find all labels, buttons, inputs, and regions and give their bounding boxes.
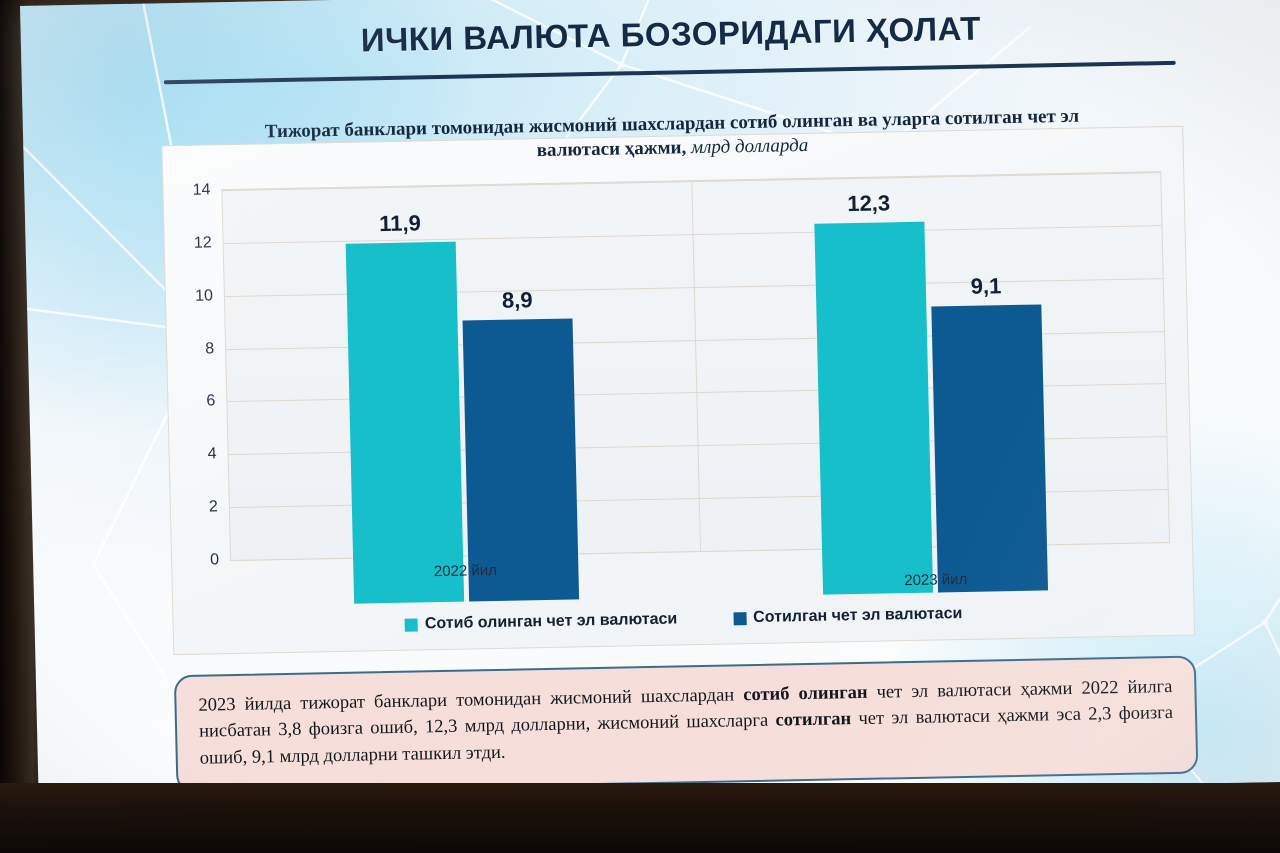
chart-title-unit: млрд долларда xyxy=(686,134,809,157)
bar-value-label: 11,9 xyxy=(379,210,421,237)
bar-sold-2023-йил[interactable] xyxy=(932,304,1048,593)
legend-label-sold: Сотилган чет эл валютаси xyxy=(753,605,963,627)
note-bold-2: сотилган xyxy=(775,709,851,730)
x-axis-category-label: 2023 йил xyxy=(904,571,967,589)
bar-value-label: 8,9 xyxy=(502,287,533,314)
y-axis-tick-label: 12 xyxy=(194,234,212,252)
legend-item-sold[interactable]: Сотилган чет эл валютаси xyxy=(733,605,963,627)
summary-note: 2023 йилда тижорат банклари томонидан жи… xyxy=(174,656,1199,794)
note-bold-1: сотиб олинган xyxy=(743,683,868,705)
chart-legend: Сотиб олинган чет эл валютаси Сотилган ч… xyxy=(174,601,1194,639)
chart-container: Тижорат банклари томонидан жисмоний шахс… xyxy=(161,126,1195,655)
y-axis-tick-label: 8 xyxy=(205,340,214,358)
legend-item-bought[interactable]: Сотиб олинган чет эл валютаси xyxy=(405,610,678,633)
presentation-slide: ИЧКИ ВАЛЮТА БОЗОРИДАГИ ҲОЛАТ Тижорат бан… xyxy=(20,0,1280,806)
room-wall-bottom xyxy=(0,783,1280,853)
photo-stage: ИЧКИ ВАЛЮТА БОЗОРИДАГИ ҲОЛАТ Тижорат бан… xyxy=(0,0,1280,853)
plot-area: 0246810121411,98,912,39,1 xyxy=(221,171,1170,561)
y-axis-tick-label: 6 xyxy=(206,393,215,411)
note-text-1: 2023 йилда тижорат банклари томонидан жи… xyxy=(198,685,743,715)
legend-swatch-sold xyxy=(733,612,746,625)
y-axis-tick-label: 14 xyxy=(192,181,210,199)
bar-sold-2022-йил[interactable] xyxy=(463,318,579,601)
legend-label-bought: Сотиб олинган чет эл валютаси xyxy=(425,610,678,633)
y-axis-tick-label: 10 xyxy=(195,287,213,305)
bar-value-label: 12,3 xyxy=(847,190,890,217)
category-separator xyxy=(691,181,701,551)
y-axis-tick-label: 2 xyxy=(209,498,218,516)
bar-bought-2022-йил[interactable] xyxy=(346,241,464,604)
y-axis-tick-label: 0 xyxy=(210,551,219,569)
x-axis-category-label: 2022 йил xyxy=(434,562,497,580)
bar-value-label: 9,1 xyxy=(970,273,1001,300)
bar-bought-2023-йил[interactable] xyxy=(814,222,932,595)
y-axis-tick-label: 4 xyxy=(208,446,217,464)
legend-swatch-bought xyxy=(405,618,418,631)
